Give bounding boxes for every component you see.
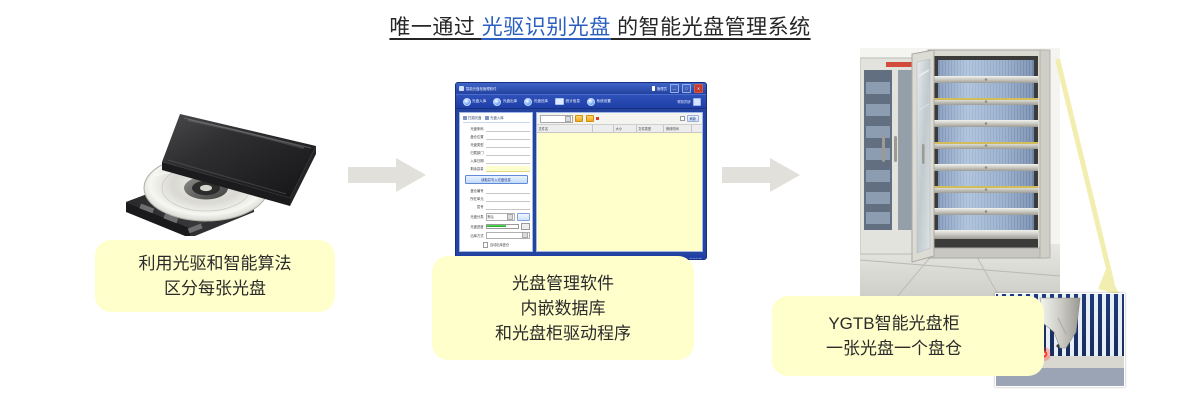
disc-progress-label: 光盘进度 xyxy=(463,224,484,229)
disc-management-software-window[interactable]: 智能光盘柜管理软件 管理员 — □ ✕ 光盘入库 光盘出库 xyxy=(455,82,707,260)
tab-disc-in[interactable]: 光盘入库 xyxy=(485,115,504,120)
field-disc-barcode[interactable]: 光盘条码 xyxy=(463,126,530,132)
toolbar-label-0: 光盘入库 xyxy=(472,99,486,104)
subfield-input-2[interactable] xyxy=(486,204,530,210)
column-header-0[interactable]: 文件名 xyxy=(537,125,593,132)
caption-left-line-0: 利用光驱和智能算法 xyxy=(139,251,292,276)
disc-category-row[interactable]: 光盘分类 默认 xyxy=(463,213,530,221)
open-glass-door xyxy=(912,50,934,262)
subfield-unit[interactable]: 所在单元 xyxy=(463,196,530,202)
subfield-input-1[interactable] xyxy=(486,196,530,202)
chevron-down-icon-2 xyxy=(522,232,528,238)
toolbar-label-1: 光盘出库 xyxy=(503,99,517,104)
disc-progress-value xyxy=(521,223,530,230)
toolbar-item-disc-in[interactable]: 光盘入库 xyxy=(459,98,490,106)
disc-in-icon xyxy=(463,98,471,106)
field-in-date[interactable]: 入库日期 xyxy=(463,158,530,164)
minimize-button[interactable]: — xyxy=(670,84,679,93)
caption-left: 利用光驱和智能算法 区分每张光盘 xyxy=(95,240,335,312)
drive-select[interactable]: F: xyxy=(540,115,573,123)
field-input-3[interactable] xyxy=(486,150,530,156)
subfield-layer[interactable]: 层号 xyxy=(463,204,530,210)
current-user: 管理员 xyxy=(652,86,667,91)
app-left-panel[interactable]: 扫描光盘 光盘入库 光盘条码 盘仓位置 光盘类型 xyxy=(459,112,533,252)
chevron-down-icon-3 xyxy=(565,116,571,122)
sync-icon xyxy=(693,98,701,106)
field-label-2: 光盘类型 xyxy=(463,142,484,147)
close-button[interactable]: ✕ xyxy=(694,84,703,93)
page-title-prefix: 唯一通过 xyxy=(389,16,481,39)
tab-label-1: 光盘入库 xyxy=(490,115,504,120)
stats-icon xyxy=(555,98,564,105)
field-remaining-capacity[interactable]: 剩余容量 xyxy=(463,166,530,172)
column-header-3[interactable]: 文件类型 xyxy=(637,125,665,132)
field-label-5: 剩余容量 xyxy=(463,166,484,171)
arrow-right-icon-1 xyxy=(348,158,426,192)
field-slot-position[interactable]: 盘仓位置 xyxy=(463,134,530,140)
drive-select-value: F: xyxy=(541,117,565,121)
toolbar-label-2: 光盘还库 xyxy=(534,99,548,104)
caption-right-line-1: 一张光盘一个盘仓 xyxy=(826,336,962,361)
app-toolbar[interactable]: 光盘入库 光盘出库 光盘还库 统计信息 系统设置 联机同步 xyxy=(456,94,706,109)
main-cabinet xyxy=(928,50,1044,258)
disc-cabinet-photo xyxy=(860,48,1060,298)
disc-category-manage-button[interactable] xyxy=(517,213,530,221)
column-header-1[interactable] xyxy=(593,125,614,132)
file-list-header: 文件名 大小 文件类型 修改时间 xyxy=(537,125,702,133)
app-right-panel[interactable]: F: 刷新 文件名 大小 文件类型 修改时间 xyxy=(536,112,703,252)
caption-middle-line-1: 内嵌数据库 xyxy=(495,296,631,321)
record-dot-icon xyxy=(596,117,599,120)
field-input-1[interactable] xyxy=(486,134,530,140)
auto-checkout-checkbox[interactable]: 自动出库盘仓 xyxy=(463,242,530,248)
field-input-2[interactable] xyxy=(486,142,530,148)
caption-middle-line-0: 光盘管理软件 xyxy=(495,271,631,296)
slide-canvas: 唯一通过 光驱识别光盘 的智能光盘管理系统 xyxy=(0,0,1200,400)
dvd-drive-photo xyxy=(118,106,328,236)
read-write-disc-info-button[interactable]: 读取并写入光盘信息 xyxy=(465,175,528,184)
tab-scan-disc[interactable]: 扫描光盘 xyxy=(463,115,482,120)
app-logo-icon xyxy=(459,86,464,91)
checkout-method-select[interactable] xyxy=(486,232,530,240)
arrow-right-icon-2 xyxy=(722,158,800,192)
folder-open-icon[interactable] xyxy=(586,115,594,122)
column-header-2[interactable]: 大小 xyxy=(614,125,637,132)
hide-option-checkbox[interactable]: 刷新 xyxy=(680,115,699,123)
toolbar-item-disc-out[interactable]: 光盘出库 xyxy=(490,98,521,106)
app-body: 扫描光盘 光盘入库 光盘条码 盘仓位置 光盘类型 xyxy=(456,109,706,255)
hide-checkbox-box xyxy=(680,116,686,122)
caption-left-line-1: 区分每张光盘 xyxy=(139,276,292,301)
column-header-4[interactable]: 修改时间 xyxy=(664,125,692,132)
field-label-0: 光盘条码 xyxy=(463,126,484,131)
gear-icon xyxy=(587,98,595,106)
chevron-down-icon xyxy=(507,214,513,220)
app-window-title: 智能光盘柜管理软件 xyxy=(466,86,497,91)
disc-category-select[interactable]: 默认 xyxy=(486,213,515,221)
subfield-slot-number[interactable]: 盘仓编号 xyxy=(463,188,530,194)
field-disc-type[interactable]: 光盘类型 xyxy=(463,142,530,148)
subfield-label-1: 所在单元 xyxy=(463,196,484,201)
maximize-button[interactable]: □ xyxy=(682,84,691,93)
subfield-label-2: 层号 xyxy=(463,204,484,209)
disc-icon xyxy=(485,116,489,120)
caption-right: YGTB智能光盘柜 一张光盘一个盘仓 xyxy=(772,296,1044,376)
scan-icon xyxy=(463,116,467,120)
auto-checkout-label: 自动出库盘仓 xyxy=(490,242,509,247)
toolbar-item-settings[interactable]: 系统设置 xyxy=(584,98,615,106)
field-label-1: 盘仓位置 xyxy=(463,134,484,139)
page-title-suffix: 的智能光盘管理系统 xyxy=(611,16,811,39)
checkbox-box xyxy=(483,242,489,248)
checkout-method-label: 出库方式 xyxy=(463,233,484,238)
user-icon xyxy=(652,86,655,91)
refresh-button[interactable]: 刷新 xyxy=(687,115,699,123)
field-input-5[interactable] xyxy=(486,166,530,172)
subfield-label-0: 盘仓编号 xyxy=(463,188,484,193)
app-titlebar: 智能光盘柜管理软件 管理员 — □ ✕ xyxy=(456,83,706,94)
checkout-method-row[interactable]: 出库方式 xyxy=(463,232,530,240)
field-input-4[interactable] xyxy=(486,158,530,164)
file-browser-toolbar[interactable]: F: 刷新 xyxy=(537,113,702,125)
field-department[interactable]: 归属部门 xyxy=(463,150,530,156)
disc-progress-bar xyxy=(486,224,519,229)
subfield-input-0[interactable] xyxy=(486,188,530,194)
toolbar-label-5: 联机同步 xyxy=(677,99,691,104)
disc-return-icon xyxy=(524,98,532,106)
toolbar-item-disc-return[interactable]: 光盘还库 xyxy=(521,98,552,106)
field-label-4: 入库日期 xyxy=(463,158,484,163)
folder-icon[interactable] xyxy=(575,115,583,122)
caption-middle: 光盘管理软件 内嵌数据库 和光盘柜驱动程序 xyxy=(432,256,694,360)
user-label: 管理员 xyxy=(657,86,667,91)
column-header-5[interactable] xyxy=(692,125,702,132)
page-title-highlight: 光驱识别光盘 xyxy=(482,16,611,39)
caption-right-line-0: YGTB智能光盘柜 xyxy=(826,311,962,336)
field-label-3: 归属部门 xyxy=(463,150,484,155)
disc-out-icon xyxy=(493,98,501,106)
disc-category-label: 光盘分类 xyxy=(463,214,484,219)
file-list-area[interactable] xyxy=(537,133,702,251)
tab-label-0: 扫描光盘 xyxy=(468,115,482,120)
toolbar-label-3: 统计信息 xyxy=(566,99,580,104)
field-input-0[interactable] xyxy=(486,126,530,132)
page-title: 唯一通过 光驱识别光盘 的智能光盘管理系统 xyxy=(0,14,1200,42)
toolbar-item-stats[interactable]: 统计信息 xyxy=(552,98,584,105)
disc-category-value: 默认 xyxy=(487,214,508,219)
left-panel-tabs[interactable]: 扫描光盘 光盘入库 xyxy=(463,115,530,123)
toolbar-label-4: 系统设置 xyxy=(597,99,611,104)
disc-progress-row: 光盘进度 xyxy=(463,223,530,230)
caption-middle-line-2: 和光盘柜驱动程序 xyxy=(495,321,631,346)
toolbar-item-sync[interactable]: 联机同步 xyxy=(677,98,703,106)
